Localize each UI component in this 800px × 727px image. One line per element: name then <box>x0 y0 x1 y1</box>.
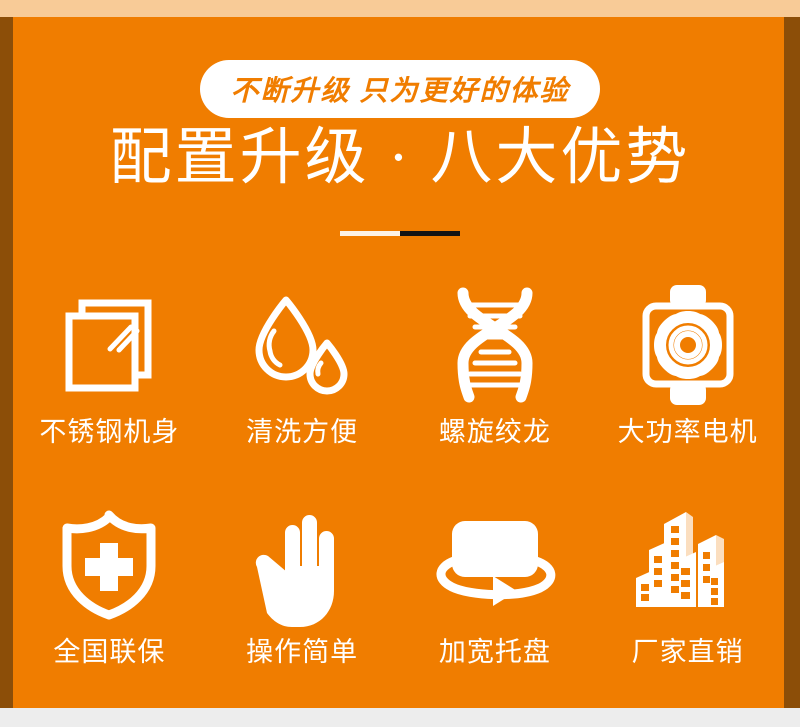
divider-light-half <box>340 231 400 236</box>
left-border-strip <box>0 17 13 708</box>
water-drops-icon <box>237 282 367 407</box>
feature-label: 清洗方便 <box>246 416 358 448</box>
feature-label: 不锈钢机身 <box>39 416 179 448</box>
feature-item: 全国联保 <box>13 502 206 670</box>
feature-label: 全国联保 <box>53 636 165 668</box>
feature-item: 加宽托盘 <box>399 502 592 670</box>
factory-buildings-icon <box>623 502 753 627</box>
feature-label: 大功率电机 <box>618 416 758 448</box>
stainless-steel-body-icon <box>44 282 174 407</box>
right-border-strip <box>784 17 800 708</box>
divider-dark-half <box>400 231 460 236</box>
feature-label: 厂家直销 <box>632 636 744 668</box>
bottom-gutter <box>0 708 800 727</box>
promo-page: 不断升级 只为更好的体验 配置升级 · 八大优势 不锈钢机身 <box>0 0 800 727</box>
feature-label: 螺旋绞龙 <box>439 416 551 448</box>
feature-label: 操作简单 <box>246 636 358 668</box>
title-divider <box>340 231 460 236</box>
page-title: 配置升级 · 八大优势 <box>0 122 800 194</box>
feature-label: 加宽托盘 <box>439 636 551 668</box>
high-power-motor-icon <box>623 282 753 407</box>
spiral-auger-icon <box>430 282 560 407</box>
feature-item: 大功率电机 <box>591 282 784 450</box>
hand-icon <box>237 502 367 627</box>
feature-item: 不锈钢机身 <box>13 282 206 450</box>
feature-item: 螺旋绞龙 <box>399 282 592 450</box>
subtitle-badge: 不断升级 只为更好的体验 <box>200 60 600 118</box>
feature-item: 操作简单 <box>206 502 399 670</box>
feature-item: 厂家直销 <box>591 502 784 670</box>
top-decorative-strip <box>0 0 800 17</box>
wide-tray-icon <box>430 502 560 627</box>
shield-warranty-icon <box>44 502 174 627</box>
subtitle-badge-text: 不断升级 只为更好的体验 <box>230 69 569 109</box>
feature-grid: 不锈钢机身 清洗方便 <box>13 282 784 670</box>
feature-item: 清洗方便 <box>206 282 399 450</box>
